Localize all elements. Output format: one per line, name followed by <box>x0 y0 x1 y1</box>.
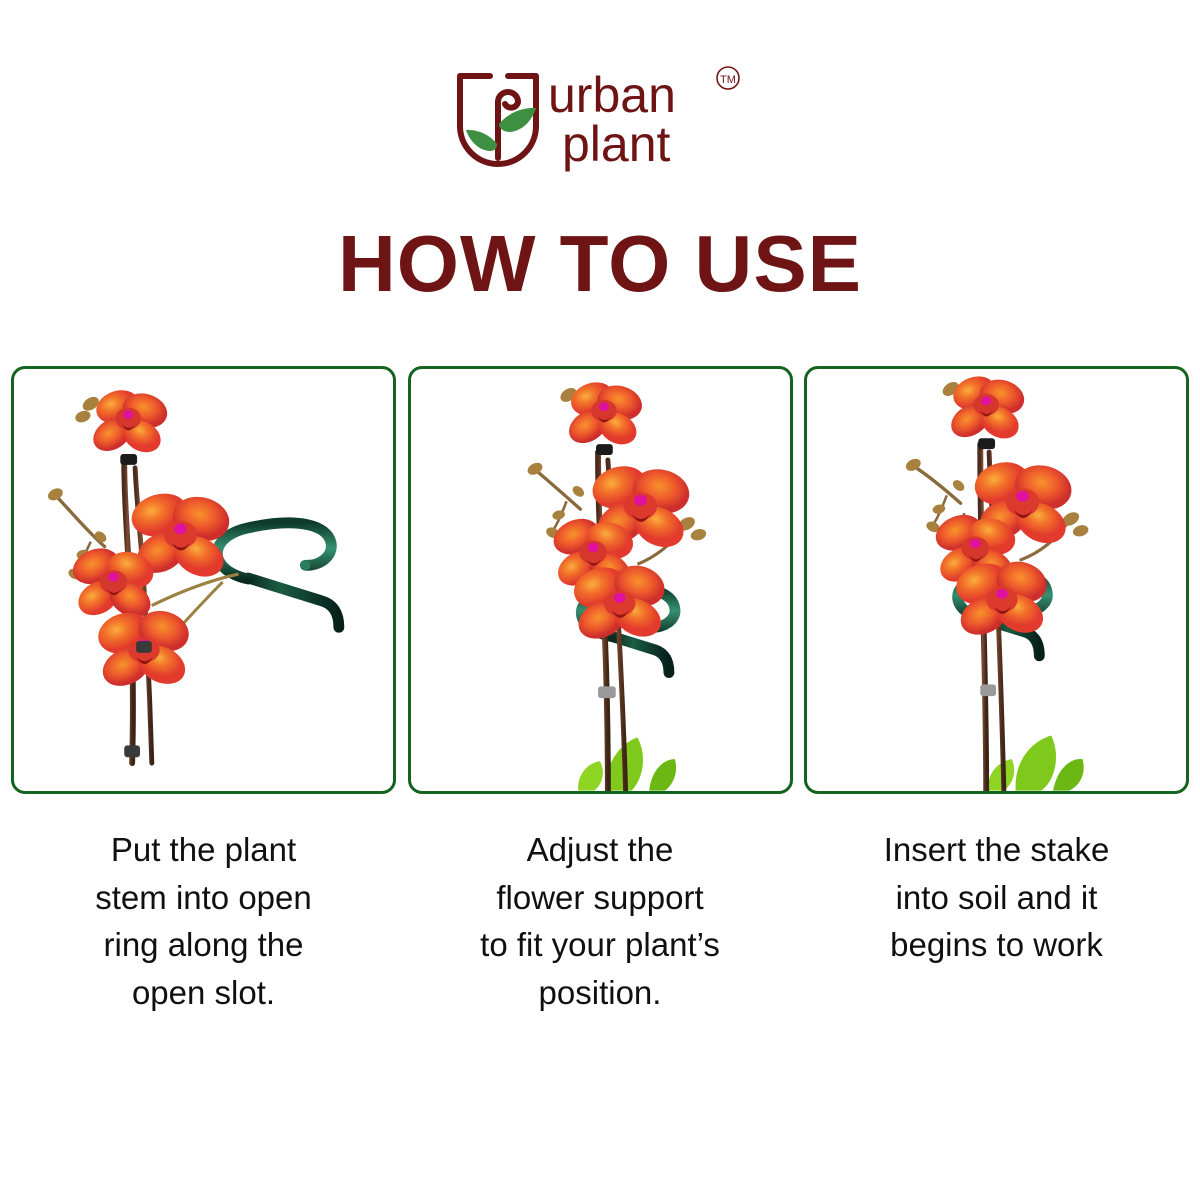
shield-sprout-icon <box>460 76 536 164</box>
stem-clip <box>124 745 140 757</box>
brand-name-line1: urban <box>548 67 676 123</box>
steps-image-row <box>11 366 1189 794</box>
svg-text:TM: TM <box>720 74 736 86</box>
step-2-image-panel <box>408 366 793 794</box>
step-3-image-panel <box>804 366 1189 794</box>
step-1-image-panel <box>11 366 396 794</box>
orchid-plant <box>46 385 239 764</box>
orchid-with-open-spiral-stake-illustration <box>14 369 393 791</box>
stem-clip <box>980 684 996 696</box>
step-2-caption: Adjust the flower support to fit your pl… <box>408 826 793 1016</box>
brand-logo: urban plant TM <box>0 62 1200 174</box>
orchid-with-ring-around-stem-illustration <box>411 369 790 791</box>
stem-clip <box>598 686 616 698</box>
orchid-flower <box>945 371 1028 445</box>
trademark-icon: TM <box>717 67 739 89</box>
step-3-caption: Insert the stake into soil and it begins… <box>804 826 1189 1016</box>
stem-clip <box>136 641 152 653</box>
orchid-with-stake-in-soil-illustration <box>807 369 1186 791</box>
spiral-plant-stake <box>217 523 339 763</box>
page-title: HOW TO USE <box>0 222 1200 306</box>
brand-name-line2: plant <box>562 116 671 172</box>
orchid-plant <box>904 371 1090 791</box>
orchid-flower <box>562 377 645 451</box>
how-to-use-infographic: urban plant TM HOW TO USE <box>0 0 1200 1200</box>
stem-clip <box>596 444 613 455</box>
step-1-caption: Put the plant stem into open ring along … <box>11 826 396 1016</box>
orchid-plant <box>525 377 707 791</box>
stem-clip <box>120 454 137 465</box>
steps-caption-row: Put the plant stem into open ring along … <box>11 826 1189 1016</box>
orchid-flower <box>87 385 171 459</box>
stem-clip <box>978 438 995 449</box>
